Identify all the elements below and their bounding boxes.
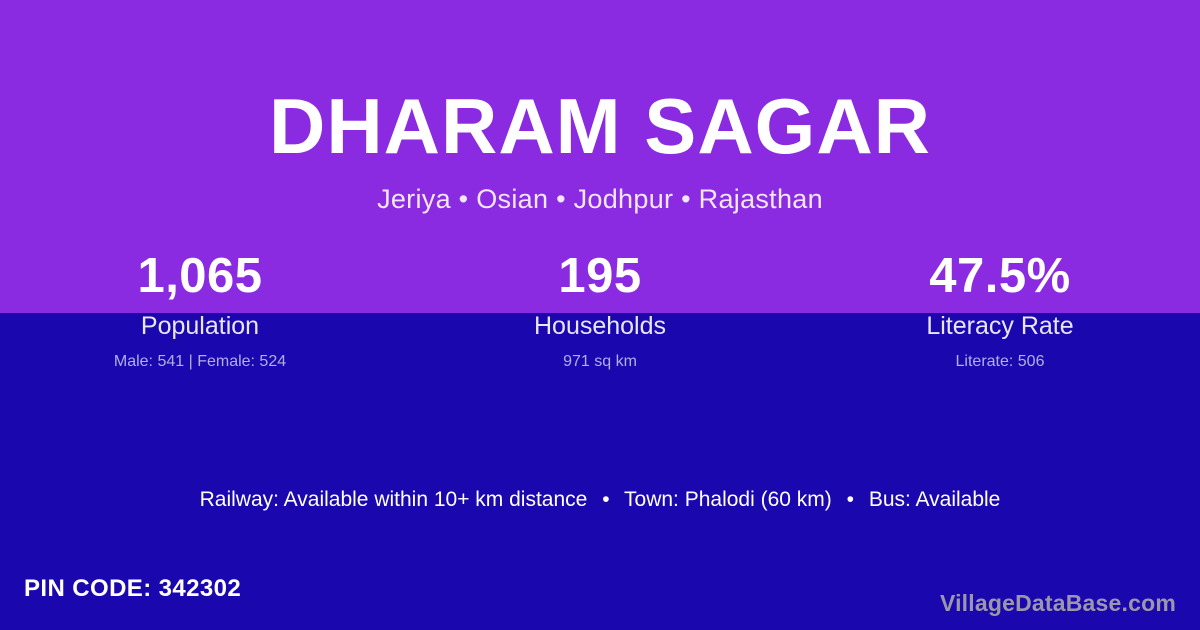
stat-value: 1,065 <box>0 248 400 304</box>
stat-value: 195 <box>400 248 800 304</box>
site-watermark: VillageDataBase.com <box>940 589 1176 617</box>
stat-label: Population <box>0 312 400 341</box>
stat-population: 1,065 Population Male: 541 | Female: 524 <box>0 248 400 372</box>
stat-label: Households <box>400 312 800 341</box>
breadcrumb: Jeriya • Osian • Jodhpur • Rajasthan <box>0 182 1200 216</box>
infra-separator: • <box>593 487 618 513</box>
stat-label: Literacy Rate <box>800 312 1200 341</box>
stat-households: 195 Households 971 sq km <box>400 248 800 372</box>
stat-literacy-rate: 47.5% Literacy Rate Literate: 506 <box>800 248 1200 372</box>
stat-subtext: Male: 541 | Female: 524 <box>0 352 400 372</box>
infra-separator: • <box>838 487 863 513</box>
infra-railway: Railway: Available within 10+ km distanc… <box>200 488 588 511</box>
page-title: DHARAM SAGAR <box>0 80 1200 172</box>
infra-town: Town: Phalodi (60 km) <box>624 488 832 511</box>
infrastructure-summary: Railway: Available within 10+ km distanc… <box>0 487 1200 513</box>
village-info-card: DHARAM SAGAR Jeriya • Osian • Jodhpur • … <box>0 0 1200 630</box>
pin-code-label: PIN CODE: 342302 <box>24 574 241 604</box>
stat-value: 47.5% <box>800 248 1200 304</box>
stat-subtext: Literate: 506 <box>800 352 1200 372</box>
card-footer: PIN CODE: 342302 VillageDataBase.com <box>0 571 1200 630</box>
stats-row: 1,065 Population Male: 541 | Female: 524… <box>0 248 1200 372</box>
stat-subtext: 971 sq km <box>400 352 800 372</box>
infra-bus: Bus: Available <box>869 488 1001 511</box>
